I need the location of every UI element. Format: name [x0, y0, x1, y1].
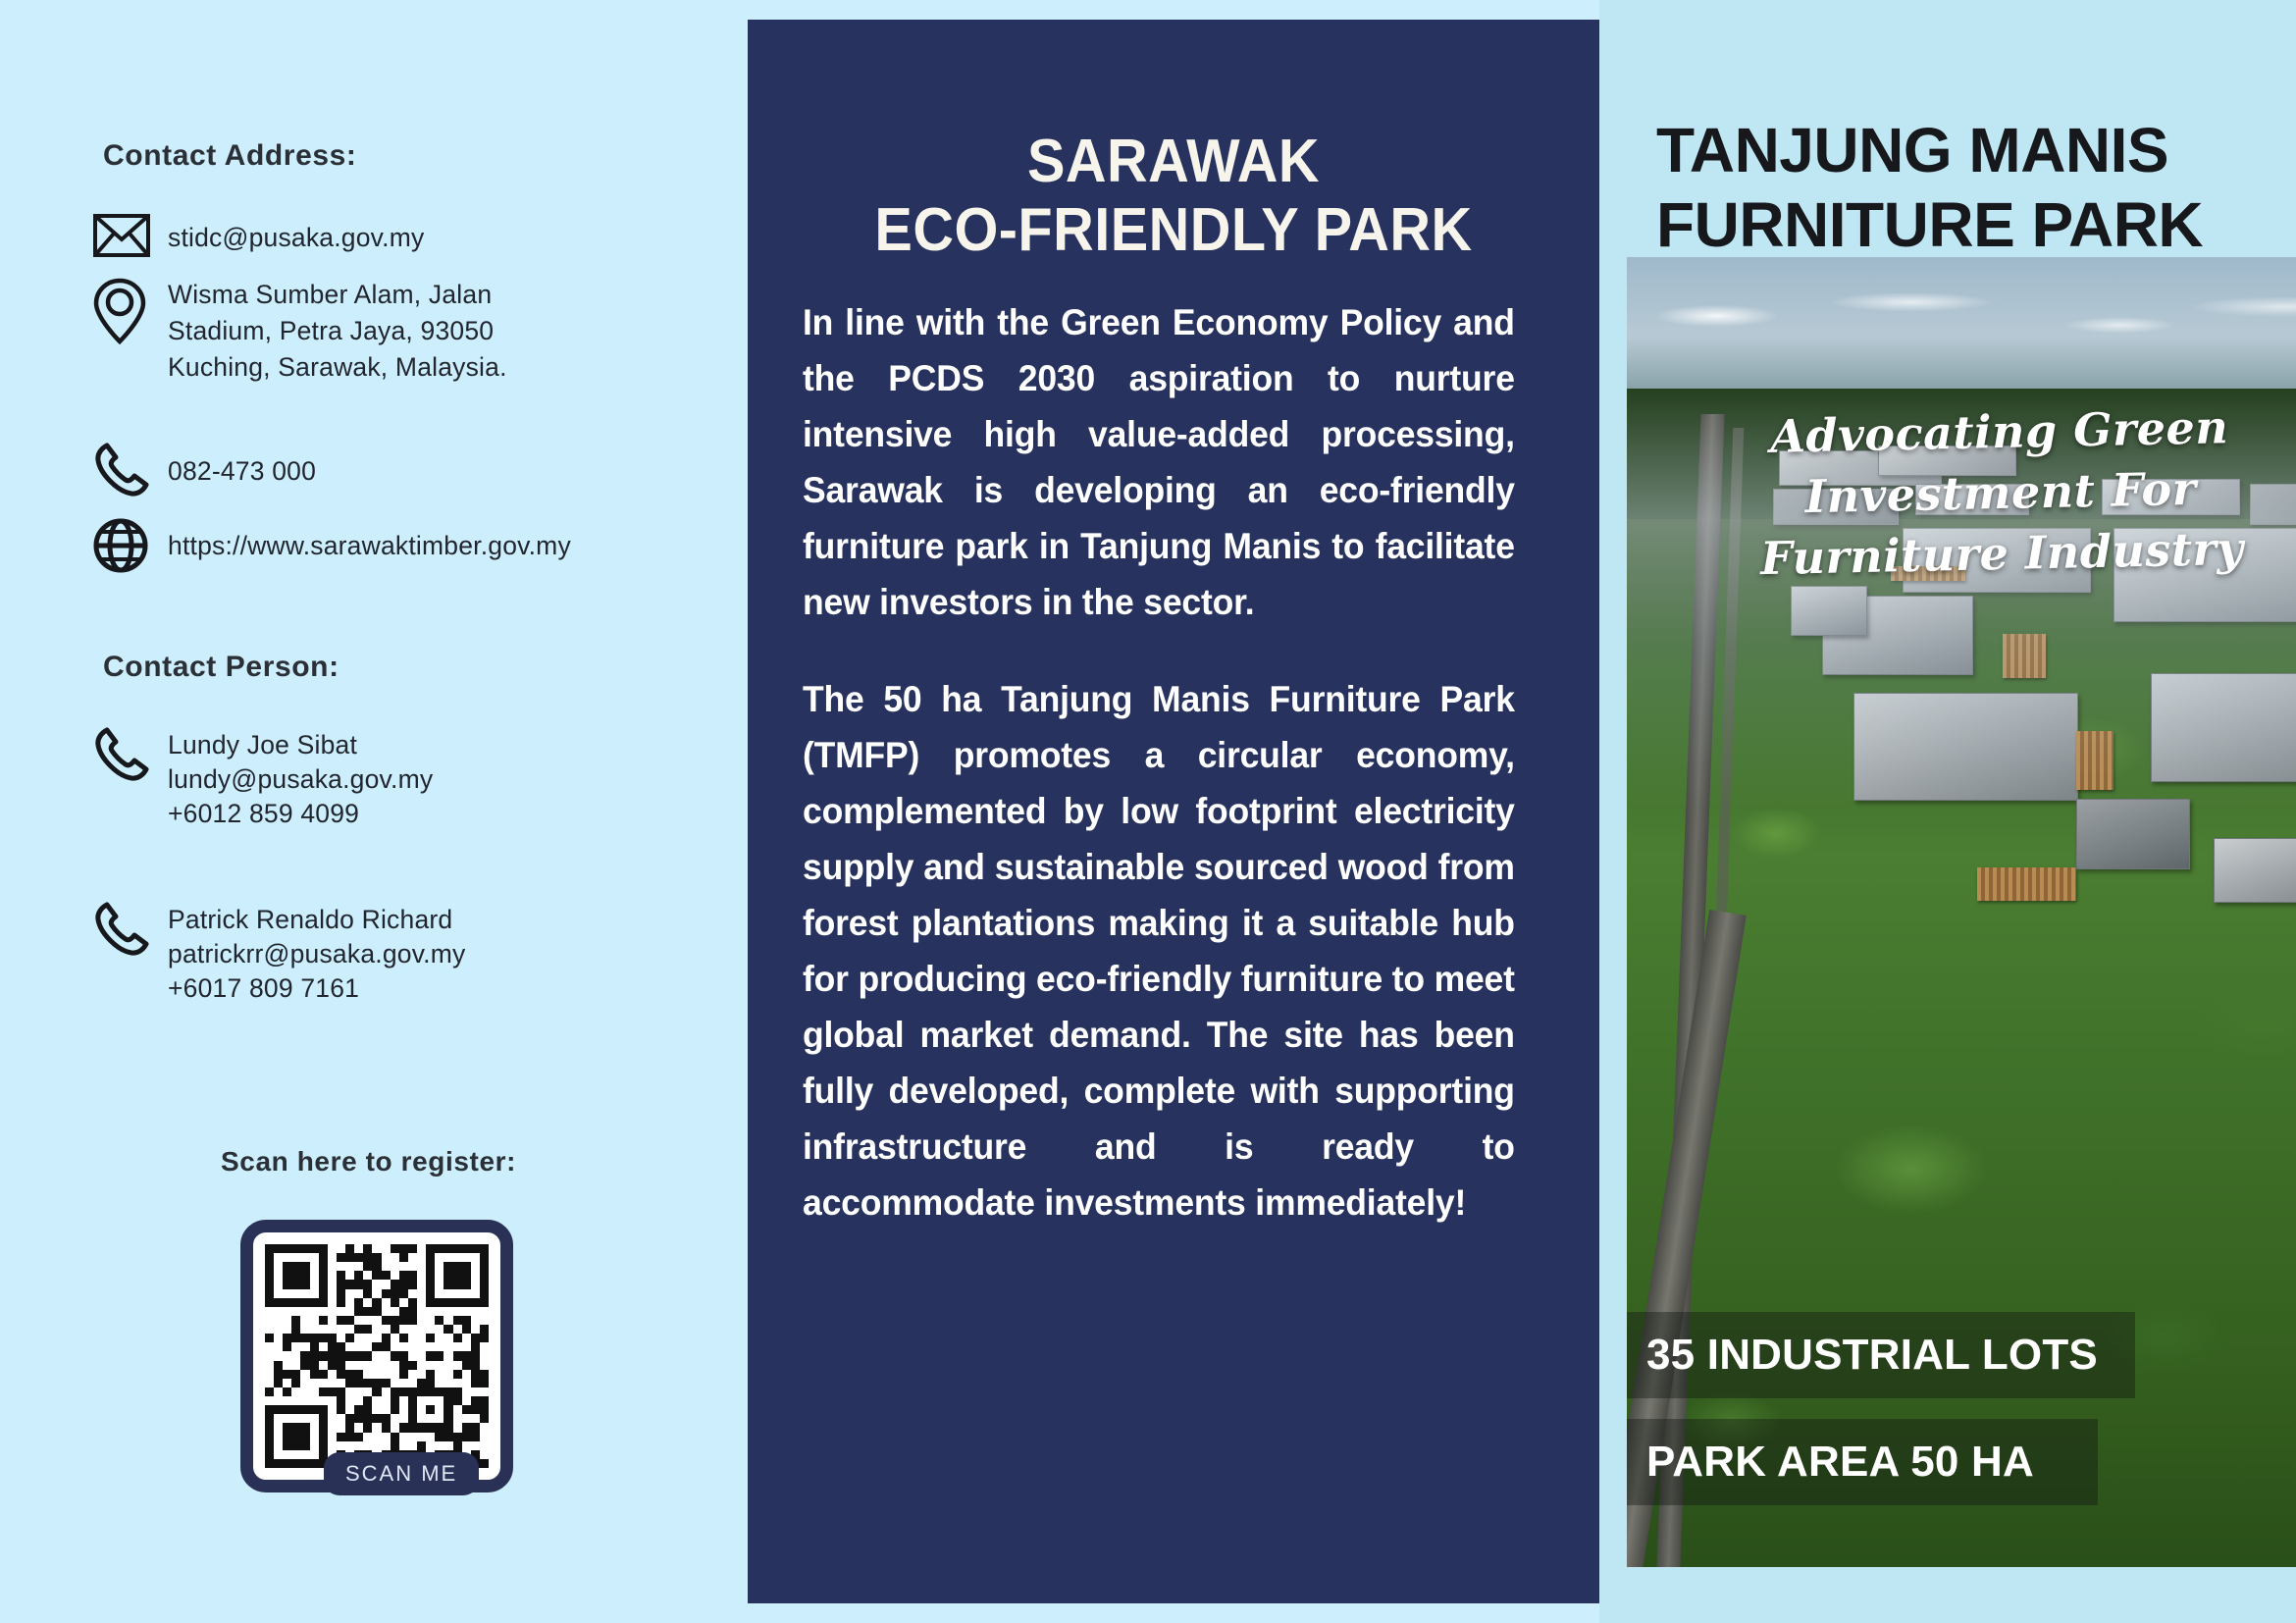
- contact-person-row[interactable]: Patrick Renaldo Richard patrickrr@pusaka…: [93, 901, 465, 1006]
- contact-panel: Contact Address: stidc@pusaka.gov.my Wis…: [0, 0, 748, 1623]
- contact-phone-value: 082-473 000: [168, 442, 316, 490]
- stat-park-area: PARK AREA 50 HA: [1627, 1419, 2098, 1505]
- contact-person-details: Patrick Renaldo Richard patrickrr@pusaka…: [168, 901, 465, 1006]
- qr-code-matrix: [265, 1244, 489, 1468]
- photo-clouds: [1627, 270, 2296, 361]
- contact-email-row[interactable]: stidc@pusaka.gov.my: [93, 214, 424, 273]
- description-paragraph-1: In line with the Green Economy Policy an…: [803, 294, 1515, 630]
- hero-panel: TANJUNG MANIS FURNITURE PARK: [1599, 0, 2296, 1623]
- envelope-icon: [93, 214, 168, 273]
- hero-tagline: Advocating Green Investment For Furnitur…: [1627, 393, 2296, 592]
- contact-address-title: Contact Address:: [103, 139, 357, 173]
- person-name: Patrick Renaldo Richard: [168, 903, 465, 937]
- address-line-1: Wisma Sumber Alam, Jalan: [168, 277, 639, 313]
- globe-icon: [93, 518, 168, 577]
- page-title: SARAWAK ECO-FRIENDLY PARK: [828, 128, 1518, 265]
- person-phone: +6017 809 7161: [168, 971, 465, 1006]
- description-panel: SARAWAK ECO-FRIENDLY PARK In line with t…: [748, 20, 1599, 1603]
- phone-icon: [93, 901, 168, 960]
- phone-icon: [93, 726, 168, 785]
- contact-person-title: Contact Person:: [103, 651, 339, 684]
- person-name: Lundy Joe Sibat: [168, 728, 433, 762]
- contact-phone-row[interactable]: 082-473 000: [93, 442, 316, 500]
- contact-website-row[interactable]: https://www.sarawaktimber.gov.my: [93, 518, 571, 577]
- person-email: lundy@pusaka.gov.my: [168, 762, 433, 797]
- scan-register-title: Scan here to register:: [221, 1146, 516, 1178]
- description-paragraph-2: The 50 ha Tanjung Manis Furniture Park (…: [803, 671, 1515, 1230]
- hero-title: TANJUNG MANIS FURNITURE PARK: [1656, 113, 2203, 262]
- contact-website-value: https://www.sarawaktimber.gov.my: [168, 518, 571, 564]
- brochure-page: Contact Address: stidc@pusaka.gov.my Wis…: [0, 0, 2296, 1623]
- contact-address-row: Wisma Sumber Alam, Jalan Stadium, Petra …: [93, 277, 639, 386]
- map-pin-icon: [93, 277, 168, 336]
- address-line-2: Stadium, Petra Jaya, 93050: [168, 313, 639, 349]
- title-line-1: SARAWAK: [828, 128, 1518, 196]
- contact-person-details: Lundy Joe Sibat lundy@pusaka.gov.my +601…: [168, 726, 433, 831]
- address-line-3: Kuching, Sarawak, Malaysia.: [168, 349, 639, 386]
- hero-title-line-2: FURNITURE PARK: [1656, 187, 2203, 262]
- aerial-park-photo: Advocating Green Investment For Furnitur…: [1627, 257, 2296, 1567]
- hero-title-line-1: TANJUNG MANIS: [1656, 113, 2203, 187]
- stat-industrial-lots: 35 INDUSTRIAL LOTS: [1627, 1312, 2135, 1398]
- phone-icon: [93, 442, 168, 500]
- person-phone: +6012 859 4099: [168, 797, 433, 831]
- contact-email-value: stidc@pusaka.gov.my: [168, 214, 424, 256]
- person-email: patrickrr@pusaka.gov.my: [168, 937, 465, 971]
- contact-address-value: Wisma Sumber Alam, Jalan Stadium, Petra …: [168, 277, 639, 386]
- contact-person-row[interactable]: Lundy Joe Sibat lundy@pusaka.gov.my +601…: [93, 726, 433, 831]
- scan-me-badge: SCAN ME: [324, 1452, 479, 1495]
- tagline-line-1: Advocating Green Investment For: [1627, 393, 2296, 531]
- title-line-2: ECO-FRIENDLY PARK: [828, 196, 1518, 265]
